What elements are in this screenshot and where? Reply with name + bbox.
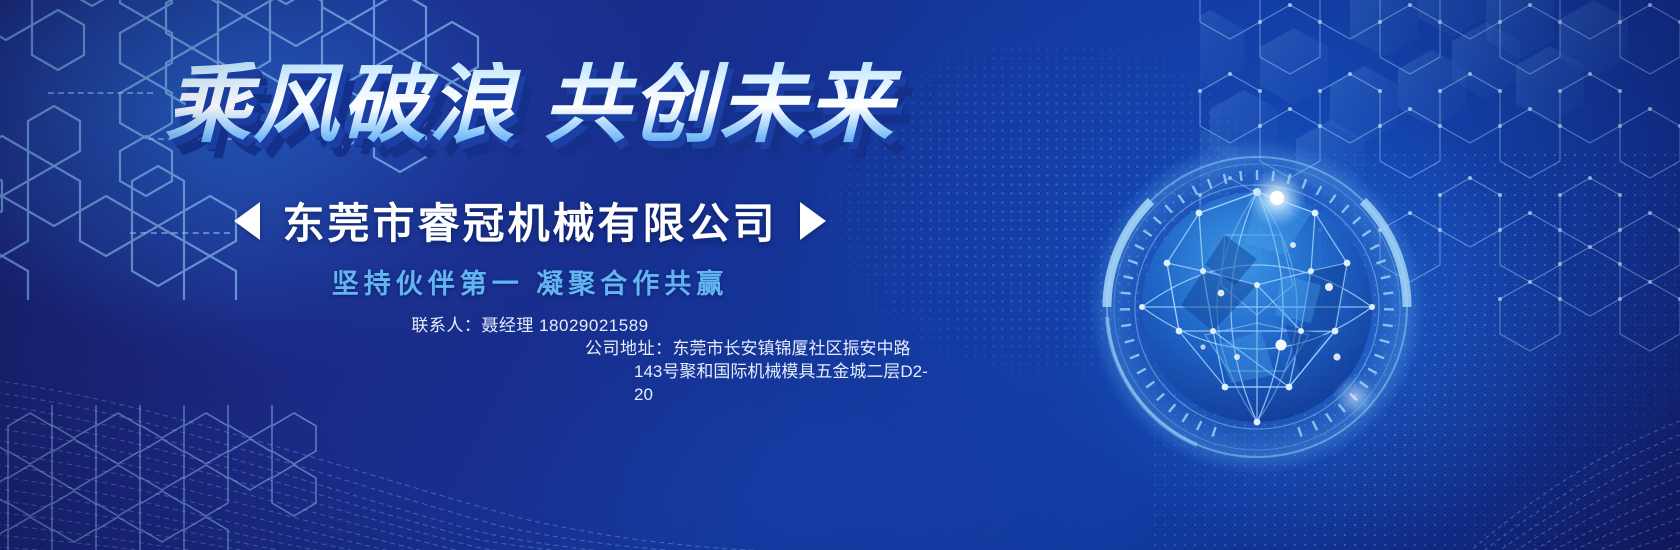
vignette-overlay	[0, 0, 1680, 550]
promo-banner: 乘风破浪 共创未来 东莞市睿冠机械有限公司 坚持伙伴第一 凝聚合作共赢 联系人：…	[0, 0, 1680, 550]
